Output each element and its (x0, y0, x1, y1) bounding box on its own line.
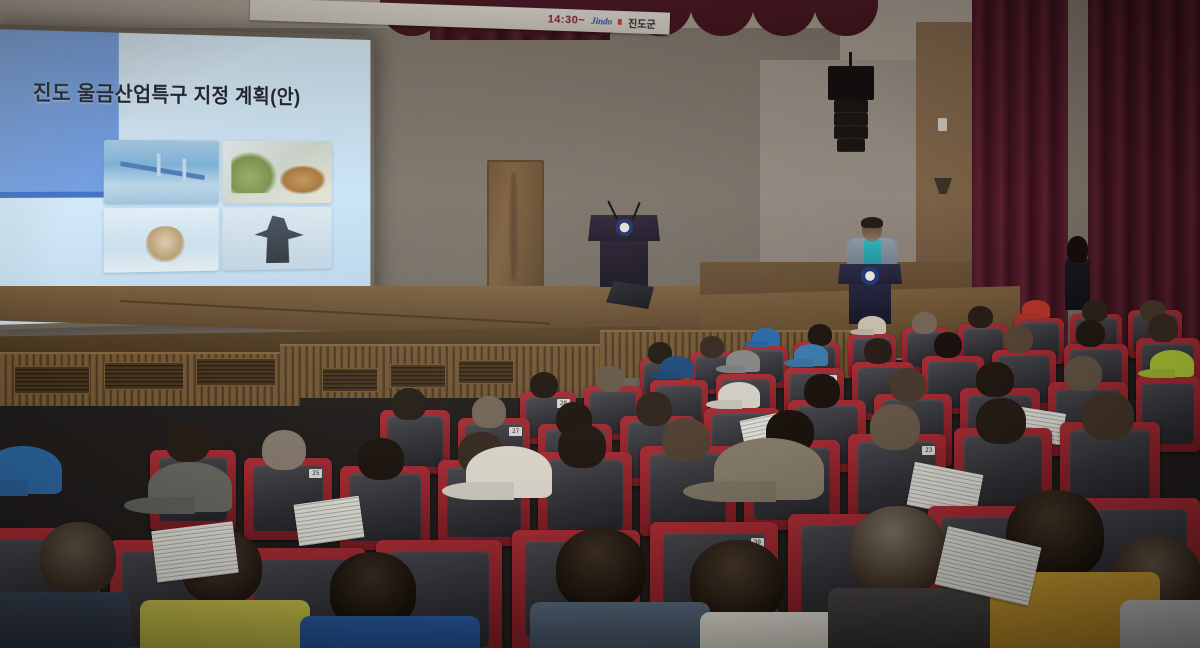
banner-logo-mark-icon (618, 19, 622, 25)
attendee-head (808, 324, 832, 346)
attendee-cap (726, 350, 760, 372)
attendee-head (358, 438, 404, 480)
wall-plate-icon (938, 118, 947, 131)
attendee-head (556, 528, 646, 610)
slide-thumbnail-grid (103, 139, 332, 272)
attendee-head (804, 374, 840, 408)
attendee-hat (714, 438, 824, 500)
thumb-jindo-bridge (103, 139, 218, 204)
attendee-head (976, 362, 1014, 397)
attendee-head (1148, 314, 1178, 342)
attendee-head (1082, 392, 1134, 440)
attendee-head (700, 336, 724, 358)
attendee-head (596, 366, 624, 392)
attendee-head (40, 522, 116, 594)
attendee-cap (794, 344, 828, 366)
presentation-slide: 진도 울금산업특구 지정 계획(안) Jindo 진도군 (0, 29, 370, 325)
attendee-head (1082, 300, 1108, 322)
attendee-head (530, 372, 558, 398)
banner-logo-korean: 진도군 (628, 15, 656, 31)
attendee-body (300, 616, 480, 648)
seat-tag: 27 (509, 427, 522, 436)
attendee-cap (1022, 300, 1050, 318)
slide-title: 진도 울금산업특구 지정 계획(안) (33, 77, 353, 111)
attendee-head (1064, 356, 1102, 391)
seat-tag: 25 (309, 469, 322, 478)
attendee-head (662, 418, 710, 462)
slide-accent-band (0, 191, 119, 198)
auditorium-photo: 진도 울금산업특구 지정 계획(안) Jindo 진도군 14:30~ Jind… (0, 0, 1200, 648)
thumb-turmeric-root (222, 140, 332, 203)
presenter (845, 218, 899, 270)
attendee-head (870, 404, 920, 450)
podium-emblem-icon (616, 219, 633, 236)
attendee-cap (466, 446, 552, 498)
attendee-head (392, 388, 426, 420)
attendee-head (934, 332, 962, 358)
attendee-body (0, 592, 130, 648)
attendee-body (1120, 600, 1200, 648)
attendee-head (1076, 320, 1105, 347)
attendee-cap (148, 462, 232, 512)
attendee-head (976, 398, 1026, 444)
attendee-head (850, 506, 946, 594)
podium-emblem-icon (861, 267, 879, 285)
attendee-cap (752, 328, 780, 346)
attendee-body (828, 588, 1008, 648)
attendee-head (262, 430, 306, 470)
slide-accent-block (0, 29, 119, 195)
attendee-head (890, 368, 926, 402)
banner-time-text: 14:30~ (547, 13, 585, 26)
attendee-cap (858, 316, 886, 334)
attendee-head (472, 396, 506, 428)
handout-paper (151, 521, 239, 583)
thumb-jindo-dog (103, 207, 218, 272)
attendee-body (530, 602, 710, 648)
projection-screen: 진도 울금산업특구 지정 계획(안) Jindo 진도군 (0, 24, 375, 330)
attendee-head (558, 424, 606, 468)
attendee-head (636, 392, 672, 426)
podium-center (588, 215, 660, 287)
attendee-cap (718, 382, 760, 408)
seat-tag: 23 (922, 446, 935, 455)
audience-seating: 28 24 27 29 (0, 300, 1200, 648)
line-array-speaker-icon (828, 52, 874, 157)
banner-logo-latin: Jindo (591, 16, 612, 27)
attendee-head (968, 306, 993, 328)
stage-door[interactable] (487, 160, 544, 292)
attendee-head (166, 422, 210, 462)
attendee-head (912, 312, 937, 334)
thumb-statue (222, 206, 332, 270)
attendee-head (864, 338, 892, 364)
attendee-cap (1150, 350, 1194, 377)
attendee-cap (660, 356, 694, 378)
attendee-head (1004, 326, 1033, 353)
attendee-cap (0, 446, 62, 494)
attendee-body (140, 600, 310, 648)
